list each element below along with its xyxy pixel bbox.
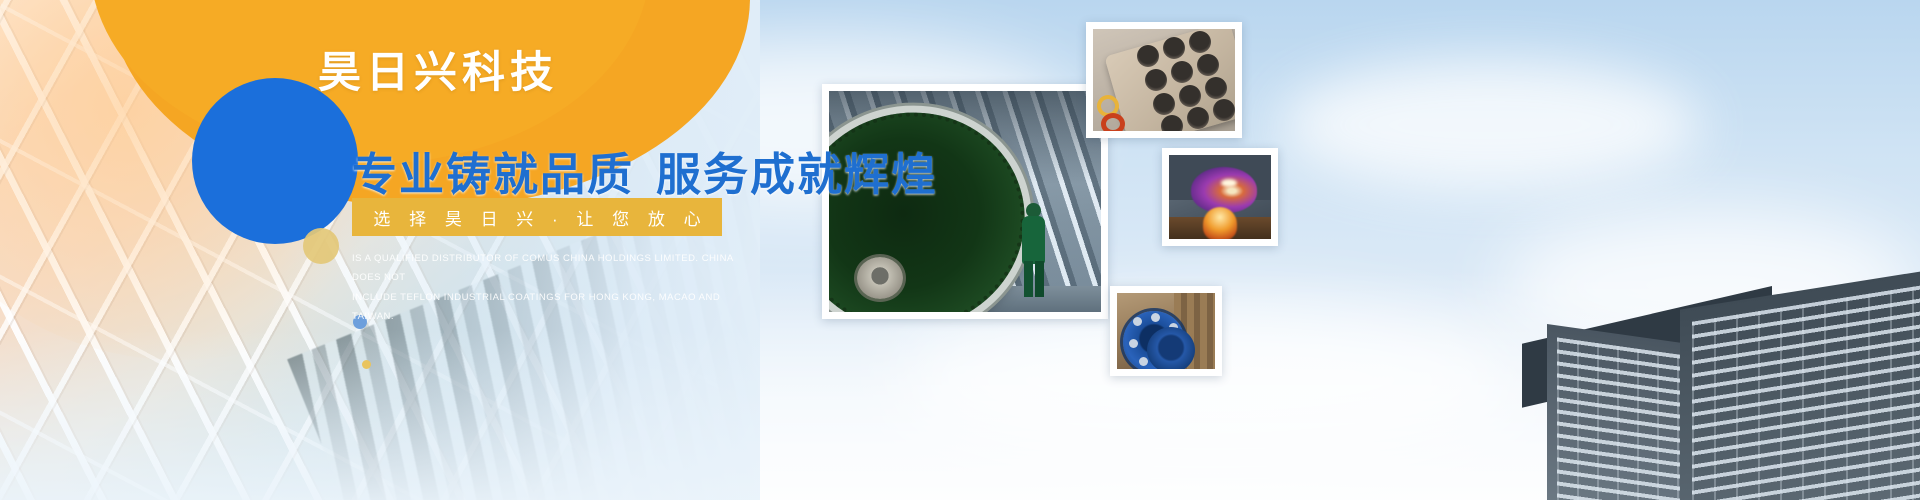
building-right-block	[1680, 270, 1920, 500]
tan-dot-icon	[303, 228, 339, 264]
building-silhouette	[1360, 220, 1920, 500]
building-windows	[1692, 286, 1920, 500]
worker-figure	[1021, 203, 1047, 295]
tray-cup	[1197, 54, 1219, 76]
headline: 专业铸就品质服务成就辉煌	[352, 150, 938, 200]
spark-highlight	[1221, 179, 1237, 187]
flange-bolt-hole	[1151, 313, 1160, 322]
worker-leg	[1024, 261, 1033, 297]
tray-cup	[1145, 69, 1167, 91]
vessel-side-flange	[857, 257, 903, 299]
tray-cup	[1171, 61, 1193, 83]
photo-industrial-vessel	[822, 84, 1108, 319]
tray-cup	[1153, 93, 1175, 115]
tray-cup	[1137, 45, 1159, 67]
tray-cup	[1163, 37, 1185, 59]
heated-workpiece	[1191, 167, 1257, 213]
tray-cup	[1205, 77, 1227, 99]
tray-cup	[1213, 99, 1235, 121]
worker-leg	[1035, 261, 1044, 297]
english-disclaimer: IS A QUALIFIED DISTRIBUTOR OF COMUS CHIN…	[352, 249, 752, 327]
tray-cup	[1179, 85, 1201, 107]
tray-cup	[1161, 115, 1183, 131]
worker-body	[1022, 216, 1045, 264]
cloud-shape	[1280, 60, 1700, 190]
flange-bolt-hole	[1133, 317, 1142, 326]
photo-baking-tray	[1086, 22, 1242, 138]
flange-bolt-hole	[1139, 357, 1148, 366]
photo-blue-flange	[1110, 286, 1222, 376]
tray-cup	[1187, 107, 1209, 129]
architecture-fade-bottom	[0, 330, 760, 500]
blue-circle	[192, 78, 358, 244]
headline-part-1: 专业铸就品质	[352, 149, 634, 200]
photo-flame-coating	[1162, 148, 1278, 246]
flange-bolt-hole	[1129, 339, 1138, 348]
english-line-2: INCLUDE TEFLON INDUSTRIAL COATINGS FOR H…	[352, 288, 752, 327]
company-name: 昊日兴科技	[318, 52, 558, 95]
blue-flange-ring-secondary	[1147, 327, 1195, 369]
red-ring	[1101, 113, 1125, 131]
tray-cup	[1189, 31, 1211, 53]
slogan-text: 选 择 昊 日 兴 · 让 您 放 心	[366, 205, 707, 230]
english-line-1: IS A QUALIFIED DISTRIBUTOR OF COMUS CHIN…	[352, 249, 752, 288]
yellow-dot-icon	[362, 360, 371, 369]
headline-part-2: 服务成就辉煌	[656, 149, 938, 200]
banner-stage: 昊日兴科技 专业铸就品质服务成就辉煌 选 择 昊 日 兴 · 让 您 放 心 I…	[0, 0, 1920, 500]
flame-jet	[1203, 207, 1237, 239]
slogan-ribbon: 选 择 昊 日 兴 · 让 您 放 心	[352, 198, 722, 236]
